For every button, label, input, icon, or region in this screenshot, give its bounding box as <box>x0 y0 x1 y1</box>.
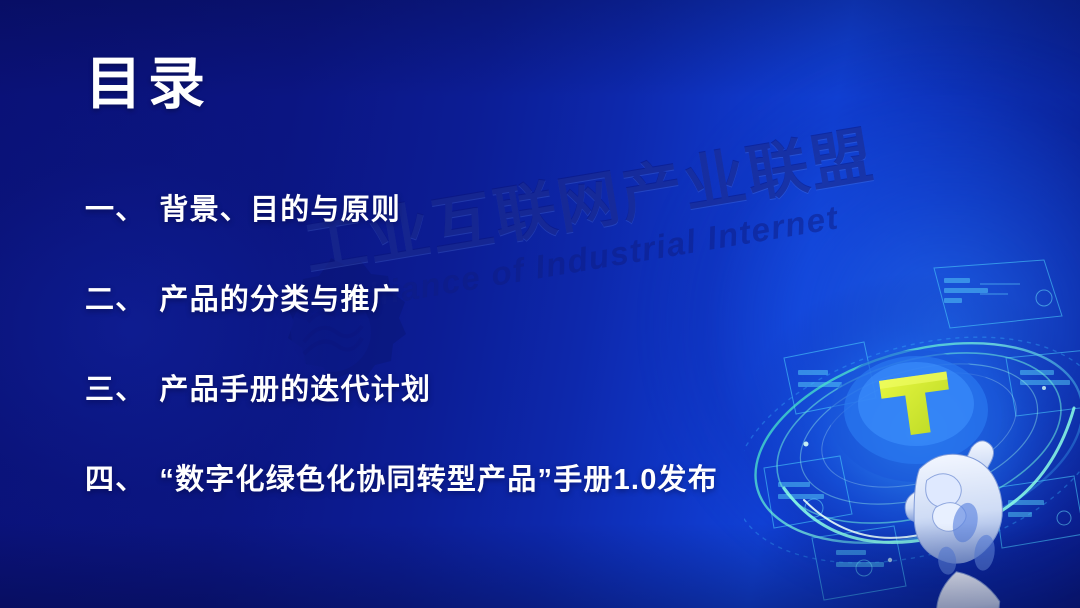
table-of-contents: 一、背景、目的与原则 二、产品的分类与推广 三、产品手册的迭代计划 四、“数字化… <box>85 196 985 556</box>
presentation-slide: 工业互联网产业联盟 Alliance of Industrial Interne… <box>0 0 1080 608</box>
toc-item-label: 产品的分类与推广 <box>159 284 401 316</box>
toc-item[interactable]: 四、“数字化绿色化协同转型产品”手册1.0发布 <box>85 466 985 556</box>
toc-item[interactable]: 一、背景、目的与原则 <box>85 196 985 286</box>
toc-item-number: 四、 <box>85 464 145 496</box>
toc-item-number: 二、 <box>85 284 145 316</box>
toc-item-label: “数字化绿色化协同转型产品”手册1.0发布 <box>159 464 718 496</box>
toc-item-number: 一、 <box>85 194 145 226</box>
toc-item-number: 三、 <box>85 374 145 406</box>
toc-item[interactable]: 三、产品手册的迭代计划 <box>85 376 985 466</box>
page-title: 目录 <box>85 56 211 113</box>
toc-item-label: 背景、目的与原则 <box>159 194 401 226</box>
toc-item-label: 产品手册的迭代计划 <box>159 374 431 406</box>
toc-item[interactable]: 二、产品的分类与推广 <box>85 286 985 376</box>
